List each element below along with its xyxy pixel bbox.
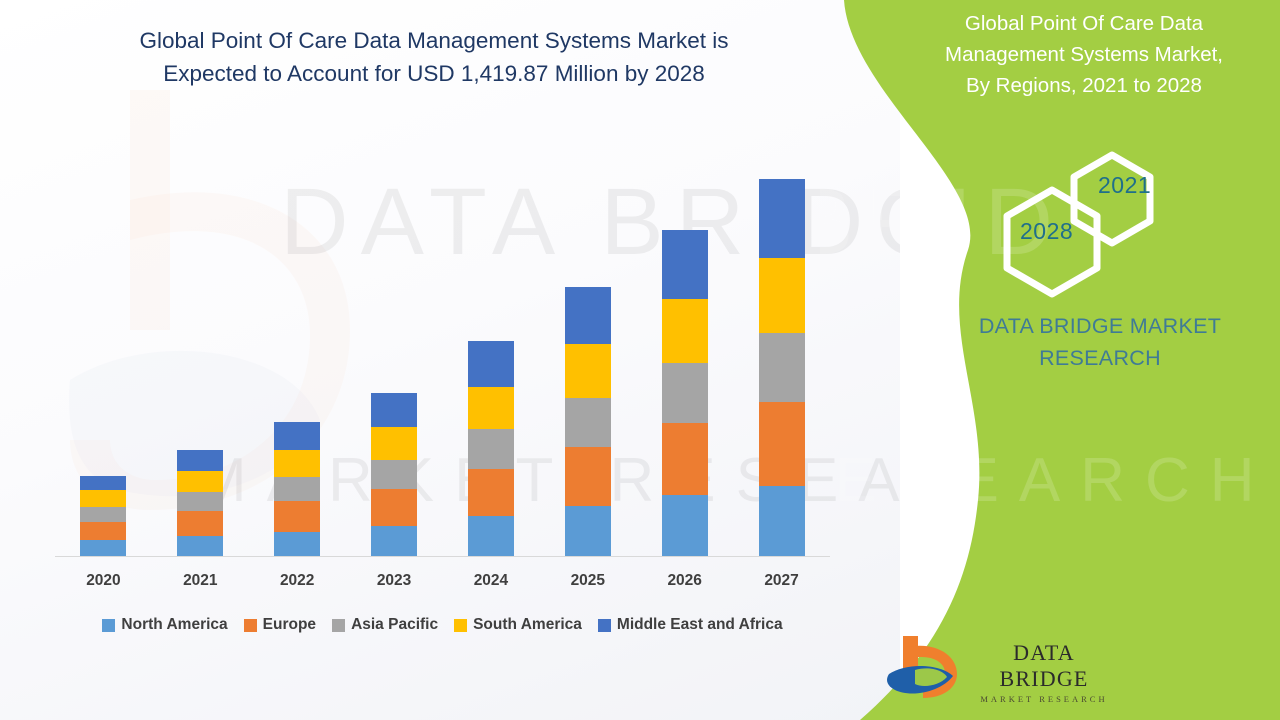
bar-segment [177, 492, 223, 511]
legend-item[interactable]: Middle East and Africa [598, 616, 783, 634]
logo-sub-text: MARKET RESEARCH [969, 692, 1119, 706]
legend-swatch-icon [244, 619, 257, 632]
bar-segment [274, 501, 320, 531]
bar-segment [371, 460, 417, 489]
x-axis-label: 2023 [351, 572, 437, 590]
legend-swatch-icon [454, 619, 467, 632]
bar-segment [274, 477, 320, 501]
bar-segment [177, 536, 223, 556]
bar-column [448, 120, 534, 556]
bar-segment [759, 258, 805, 333]
data-bridge-logo-icon [885, 632, 965, 704]
hexagon-label-2028: 2028 [1020, 218, 1073, 245]
bar-segment [371, 393, 417, 427]
bar-segment [468, 341, 514, 387]
chart-title: Global Point Of Care Data Management Sys… [60, 24, 808, 90]
legend-label: Middle East and Africa [617, 616, 783, 634]
bar-segment [565, 344, 611, 398]
x-axis-label: 2020 [60, 572, 146, 590]
bar-stack [177, 450, 223, 556]
legend-label: Asia Pacific [351, 616, 438, 634]
bar-segment [80, 507, 126, 521]
bar-column [351, 120, 437, 556]
bar-segment [759, 486, 805, 556]
infographic-canvas: DATA BRIDGE MARKET RESEARCH Global Point… [0, 0, 1280, 720]
bar-stack [565, 287, 611, 556]
bar-segment [371, 427, 417, 459]
panel-title: Global Point Of Care Data Management Sys… [908, 8, 1260, 101]
bar-segment [662, 363, 708, 423]
bar-column [157, 120, 243, 556]
bar-segment [662, 423, 708, 495]
x-axis-label: 2027 [739, 572, 825, 590]
bar-stack [759, 179, 805, 556]
bar-segment [759, 333, 805, 402]
legend-item[interactable]: Asia Pacific [332, 616, 438, 634]
bar-column [545, 120, 631, 556]
panel-title-line-1: Global Point Of Care Data [908, 8, 1260, 39]
bar-segment [468, 469, 514, 517]
bar-segment [177, 471, 223, 492]
bar-segment [565, 398, 611, 447]
bar-segment [468, 429, 514, 469]
legend-label: North America [121, 616, 227, 634]
x-axis-label: 2021 [157, 572, 243, 590]
bar-group [55, 120, 830, 556]
bar-segment [468, 516, 514, 556]
panel-title-line-3: By Regions, 2021 to 2028 [908, 70, 1260, 101]
bar-segment [662, 230, 708, 299]
bar-column [254, 120, 340, 556]
chart-title-line-2: Expected to Account for USD 1,419.87 Mil… [60, 57, 808, 90]
x-axis-label: 2025 [545, 572, 631, 590]
x-axis-label: 2026 [642, 572, 728, 590]
panel-title-line-2: Management Systems Market, [908, 39, 1260, 70]
chart-title-line-1: Global Point Of Care Data Management Sys… [60, 24, 808, 57]
legend-swatch-icon [102, 619, 115, 632]
watermark-green-line-2: RESEARCH [820, 445, 1275, 516]
bar-stack [274, 422, 320, 556]
legend-swatch-icon [598, 619, 611, 632]
bar-stack [468, 341, 514, 556]
brand-name: DATA BRIDGE MARKET RESEARCH [940, 310, 1260, 374]
legend-swatch-icon [332, 619, 345, 632]
x-axis-labels: 20202021202220232024202520262027 [55, 572, 830, 590]
legend-label: South America [473, 616, 582, 634]
bar-segment [274, 422, 320, 449]
bar-segment [759, 402, 805, 486]
bar-segment [759, 179, 805, 258]
hexagon-back-2021 [1074, 155, 1150, 243]
bar-column [60, 120, 146, 556]
legend-label: Europe [263, 616, 316, 634]
bar-segment [177, 511, 223, 535]
bar-segment [80, 540, 126, 556]
bar-segment [662, 299, 708, 364]
x-axis-label: 2022 [254, 572, 340, 590]
green-side-panel: BRID RESEARCH Global Point Of Care Data … [820, 0, 1280, 720]
x-axis-label: 2024 [448, 572, 534, 590]
bar-segment [371, 489, 417, 525]
legend-item[interactable]: Europe [244, 616, 316, 634]
green-panel-content: BRID RESEARCH Global Point Of Care Data … [820, 0, 1280, 720]
bar-segment [468, 387, 514, 430]
bar-segment [662, 495, 708, 556]
bar-segment [274, 450, 320, 477]
bar-segment [565, 506, 611, 556]
hexagon-badges [820, 120, 1280, 420]
bar-segment [274, 532, 320, 556]
hexagon-label-2021: 2021 [1098, 172, 1151, 199]
bar-column [642, 120, 728, 556]
chart-legend: North AmericaEuropeAsia PacificSouth Ame… [55, 616, 830, 634]
bar-segment [80, 490, 126, 507]
bar-segment [565, 447, 611, 507]
brand-name-line-1: DATA BRIDGE MARKET [940, 310, 1260, 342]
x-axis-line [55, 556, 830, 557]
bar-segment [177, 450, 223, 471]
company-logo: DATA BRIDGE MARKET RESEARCH [885, 632, 1115, 708]
bar-segment [80, 522, 126, 540]
bar-segment [565, 287, 611, 344]
bar-stack [662, 230, 708, 556]
brand-name-line-2: RESEARCH [940, 342, 1260, 374]
legend-item[interactable]: South America [454, 616, 582, 634]
bar-segment [371, 526, 417, 556]
bar-column [739, 120, 825, 556]
bar-stack [371, 393, 417, 556]
logo-main-text: DATA BRIDGE [969, 640, 1119, 692]
logo-wordmark: DATA BRIDGE MARKET RESEARCH [969, 640, 1119, 706]
chart-panel: DATA BRIDGE MARKET RESEARCH Global Point… [0, 0, 900, 720]
bar-segment [80, 476, 126, 490]
bar-stack [80, 476, 126, 556]
legend-item[interactable]: North America [102, 616, 227, 634]
plot-area [55, 120, 830, 557]
